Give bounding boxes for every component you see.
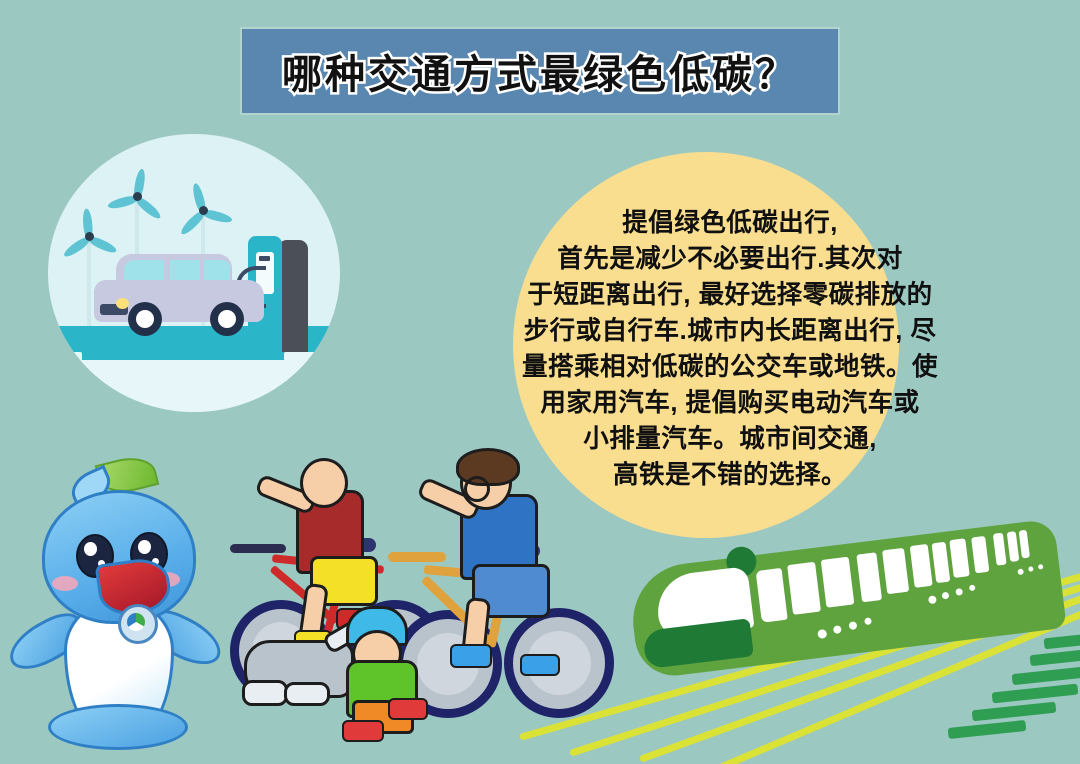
rail-sleeper xyxy=(1012,666,1080,685)
curb-left xyxy=(56,352,82,361)
train-nose xyxy=(642,618,754,669)
train-underlight xyxy=(817,629,827,639)
train-window xyxy=(910,544,933,588)
title-banner: 哪种交通方式最绿色低碳？ xyxy=(242,29,838,113)
glasses-icon xyxy=(464,476,490,502)
train-underlight xyxy=(849,621,858,630)
dog-paw xyxy=(284,682,330,706)
train-underlight xyxy=(955,588,963,596)
mascot-blush-left xyxy=(52,576,78,591)
train-window xyxy=(821,557,855,608)
ev-charging-illustration xyxy=(48,134,340,412)
man-shoe xyxy=(450,644,492,668)
mascot-emblem-icon xyxy=(118,604,158,644)
family-cycling-illustration xyxy=(228,448,570,738)
train-window xyxy=(1007,531,1020,562)
dolphin-mascot xyxy=(18,452,210,734)
train-underlight xyxy=(1038,564,1044,570)
train-window xyxy=(1019,530,1030,559)
dog-paw xyxy=(242,680,288,706)
train-window xyxy=(932,542,951,583)
train-underlight xyxy=(833,625,842,634)
child-rollerblade xyxy=(388,698,428,720)
train-body xyxy=(627,518,1067,680)
high-speed-train-illustration xyxy=(600,520,1080,764)
train-underlight xyxy=(1017,568,1024,575)
child-rollerblade xyxy=(342,720,384,742)
man-shoe xyxy=(520,654,560,676)
train-window xyxy=(993,533,1007,566)
mascot-tail xyxy=(48,704,188,750)
train-underlight xyxy=(1028,566,1034,572)
train-window xyxy=(756,568,788,623)
train-underlight xyxy=(942,592,950,600)
train-underlight xyxy=(864,617,872,625)
ev-scene-disc xyxy=(48,134,340,412)
train-underlight xyxy=(928,595,937,604)
rail-sleeper xyxy=(972,702,1057,722)
train-underlight xyxy=(969,584,976,591)
bike-handlebar xyxy=(230,544,286,553)
bike-handlebar xyxy=(388,552,446,562)
electric-car xyxy=(94,252,264,332)
rail-sleeper xyxy=(948,720,1027,739)
woman-head xyxy=(300,458,348,508)
rail-sleeper xyxy=(1030,649,1080,666)
rail-sleeper xyxy=(992,684,1079,704)
ev-ground-lower xyxy=(48,360,340,412)
train-window xyxy=(882,548,909,594)
rail-sleeper xyxy=(1044,634,1080,650)
poster-canvas: 哪种交通方式最绿色低碳？ xyxy=(0,0,1080,764)
train-window xyxy=(949,538,970,578)
train-window xyxy=(971,536,989,573)
train-window xyxy=(787,562,821,615)
train-window xyxy=(856,552,882,602)
page-title: 哪种交通方式最绿色低碳？ xyxy=(282,42,798,100)
